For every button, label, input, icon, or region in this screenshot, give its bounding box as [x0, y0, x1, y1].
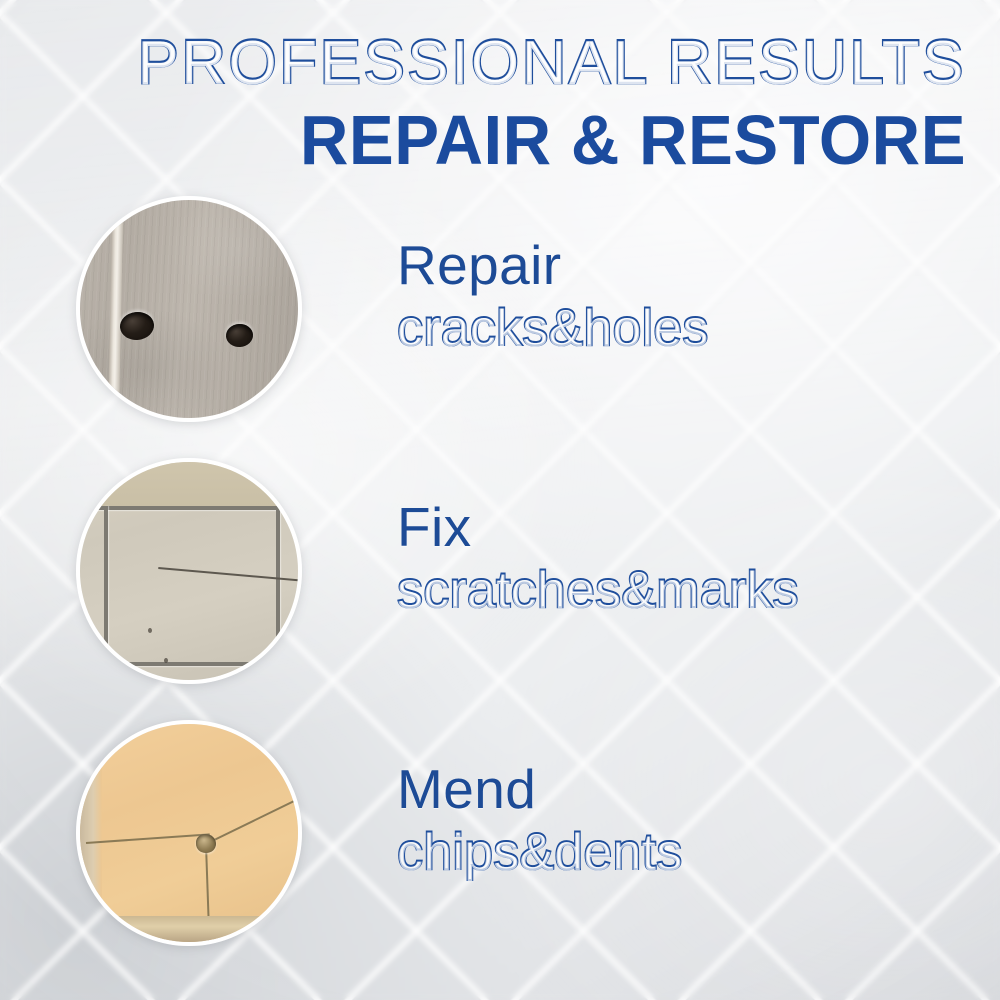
crack-line: [208, 789, 298, 844]
headline-block: PROFESSIONAL RESULTS REPAIR & RESTORE: [0, 30, 966, 179]
feature-text: Mend chips&dents: [397, 762, 977, 881]
feature-text: Repair cracks&holes: [397, 238, 977, 357]
surface-speck: [164, 658, 168, 663]
feature-list: Repair cracks&holes Fix: [0, 186, 1000, 972]
wall-corner-edge: [80, 752, 102, 942]
grout-line-horizontal: [80, 662, 298, 666]
surface-speck: [148, 628, 152, 633]
headline-secondary: REPAIR & RESTORE: [39, 103, 966, 179]
feature-photo-mend: [76, 720, 302, 946]
feature-photo-fix: [76, 458, 302, 684]
grout-line-vertical: [104, 506, 108, 680]
crack-line: [86, 833, 210, 844]
feature-row: Fix scratches&marks: [0, 448, 1000, 710]
promo-image: PROFESSIONAL RESULTS REPAIR & RESTORE Re…: [0, 0, 1000, 1000]
headline-primary: PROFESSIONAL RESULTS: [0, 30, 966, 95]
tile-crack-photo: [80, 462, 298, 680]
feature-subtitle: cracks&holes: [397, 299, 977, 357]
feature-subtitle: scratches&marks: [397, 561, 977, 619]
feature-subtitle: chips&dents: [397, 823, 977, 881]
feature-title: Mend: [397, 762, 977, 817]
feature-title: Repair: [397, 238, 977, 293]
chip-dent-icon: [196, 834, 216, 853]
grout-line-horizontal: [80, 506, 298, 510]
grout-line-vertical: [276, 506, 280, 680]
feature-row: Mend chips&dents: [0, 710, 1000, 972]
feature-row: Repair cracks&holes: [0, 186, 1000, 448]
tile-upper-band: [80, 462, 298, 506]
feature-photo-repair: [76, 196, 302, 422]
painted-wall-chip-photo: [80, 724, 298, 942]
feature-text: Fix scratches&marks: [397, 500, 977, 619]
concrete-wall-photo: [80, 200, 298, 418]
baseboard-strip: [80, 916, 298, 942]
feature-title: Fix: [397, 500, 977, 555]
